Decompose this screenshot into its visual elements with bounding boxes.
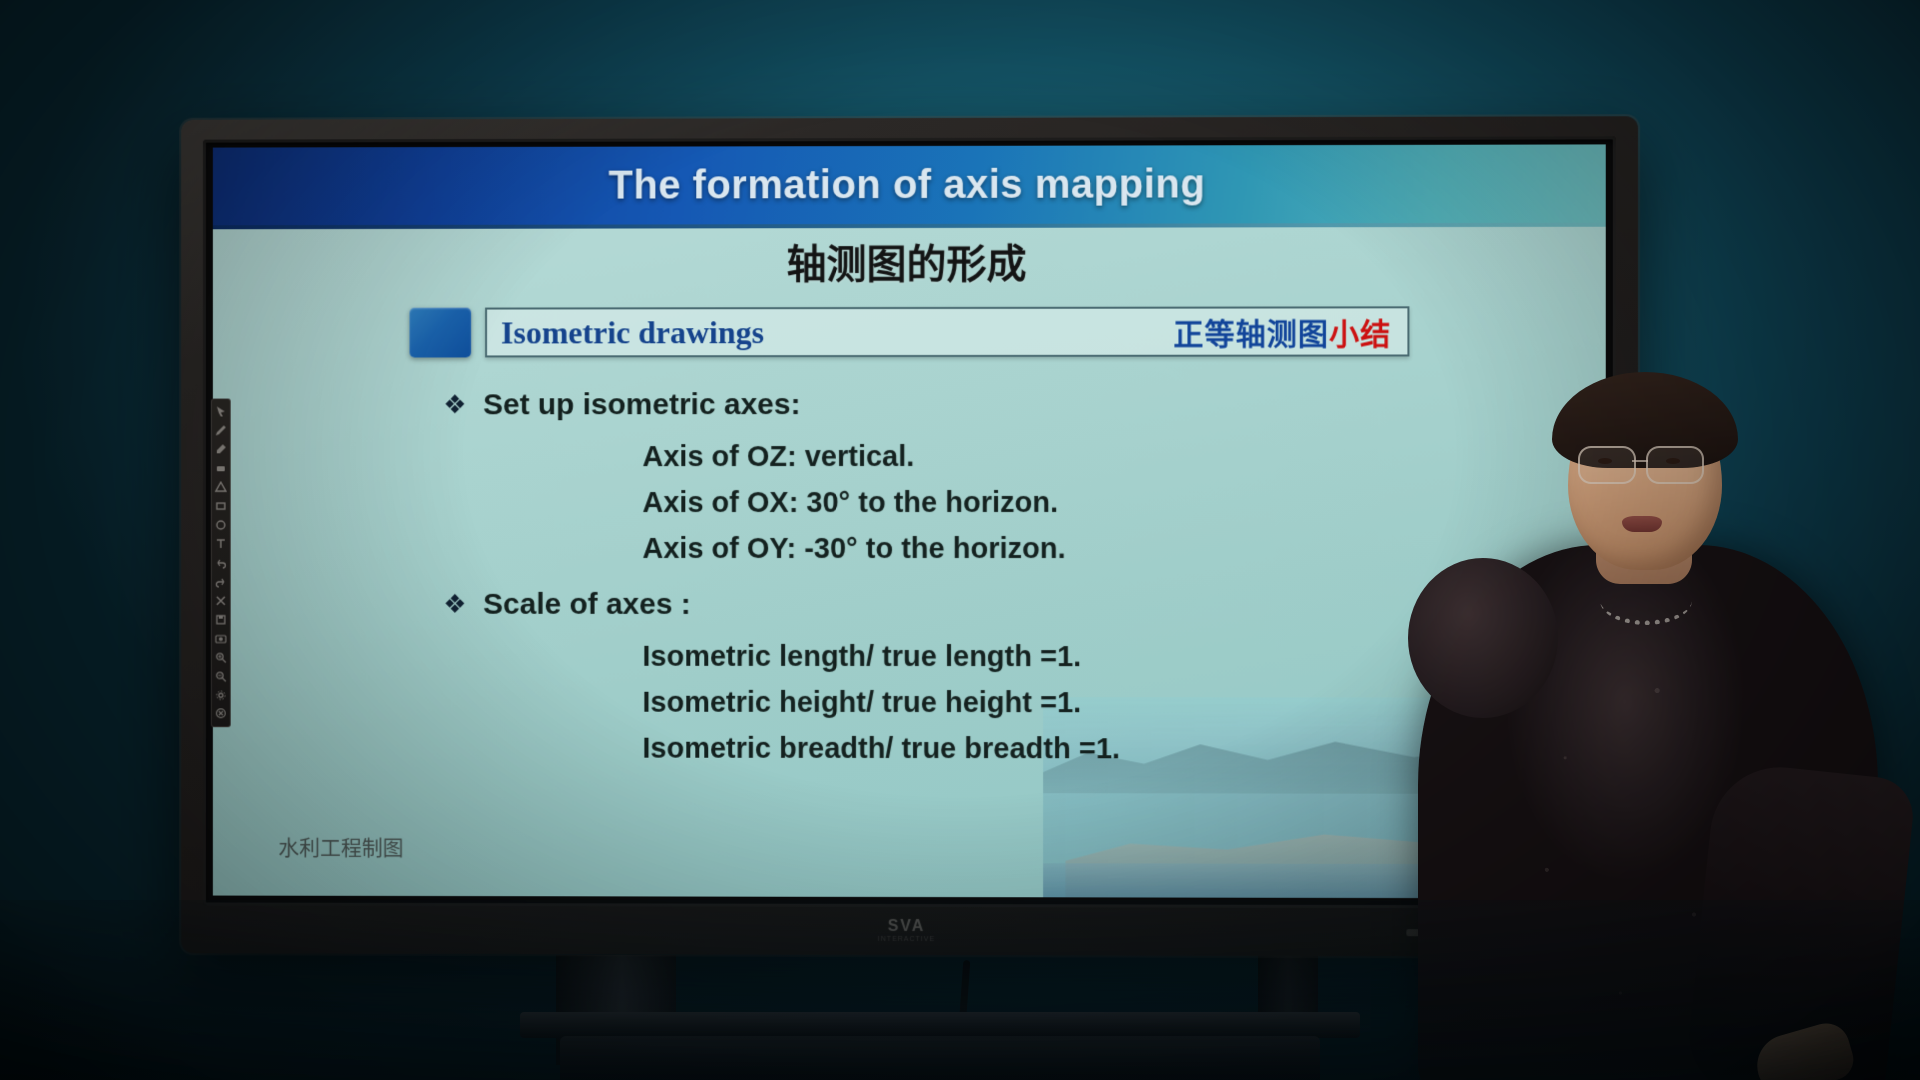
video-frame: The formation of axis mapping 轴测图的形成 Iso…	[0, 0, 1920, 1080]
vignette-overlay	[0, 0, 1920, 1080]
